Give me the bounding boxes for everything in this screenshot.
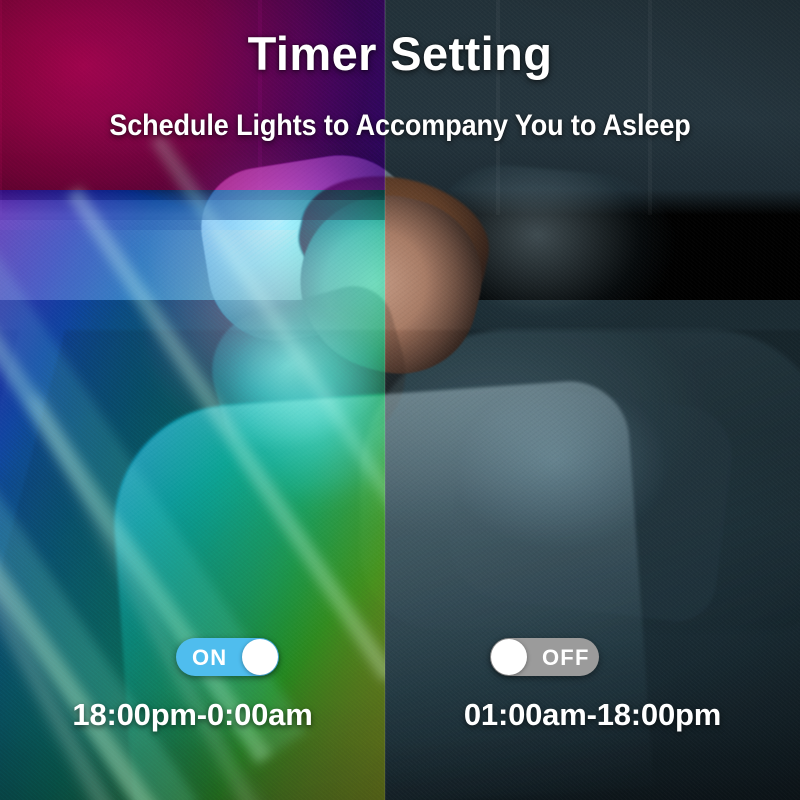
timer-toggle-on[interactable]: ON: [176, 638, 279, 676]
toggle-knob-icon[interactable]: [242, 639, 278, 675]
timer-range-on: 18:00pm-0:00am: [0, 697, 385, 733]
page-title: Timer Setting: [0, 26, 800, 81]
timer-toggle-off-label: OFF: [542, 647, 590, 669]
timer-toggle-off[interactable]: OFF: [490, 638, 599, 676]
toggle-knob-icon[interactable]: [491, 639, 527, 675]
page-subtitle: Schedule Lights to Accompany You to Asle…: [40, 109, 760, 143]
product-feature-image: Timer Setting Schedule Lights to Accompa…: [0, 0, 800, 800]
timer-toggle-on-label: ON: [192, 647, 227, 669]
timer-range-off: 01:00am-18:00pm: [385, 697, 800, 733]
